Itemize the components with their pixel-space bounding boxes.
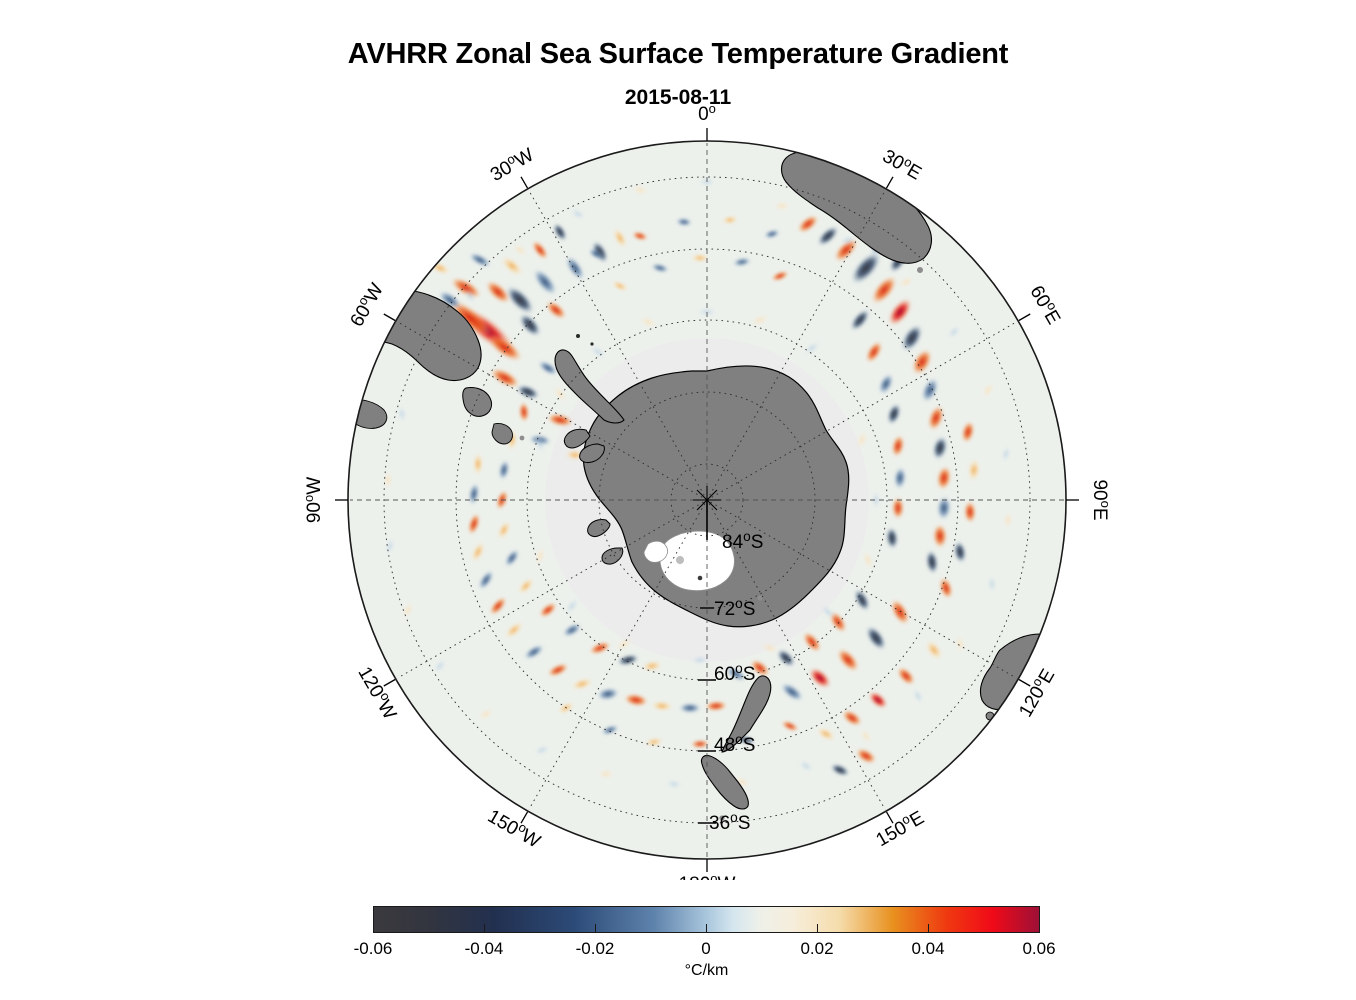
lon-label-30E: 30oE xyxy=(879,143,927,184)
colorbar-tick-label: 0.02 xyxy=(800,939,833,959)
colorbar[interactable]: -0.06 -0.04 -0.02 0 0.02 0.04 0.06 xyxy=(373,906,1040,933)
lat-label-48: 48oS xyxy=(714,732,755,756)
lon-label-60E: 60oE xyxy=(1025,281,1066,329)
figure-canvas: AVHRR Zonal Sea Surface Temperature Grad… xyxy=(0,0,1356,1000)
lat-label-84: 84oS xyxy=(722,529,763,553)
lon-label-90E: 90oE xyxy=(1089,479,1113,520)
colorbar-tick xyxy=(373,924,374,933)
colorbar-tick xyxy=(817,924,818,933)
polar-stereographic-plot: 84oS 72oS 60oS 48oS 36oS xyxy=(0,0,1356,880)
colorbar-unit-label: °C/km xyxy=(373,962,1040,980)
colorbar-tick xyxy=(1039,924,1040,933)
lat-label-60: 60oS xyxy=(714,661,755,685)
lon-label-90W: 90oW xyxy=(301,477,325,523)
sst-gradient-field: 84oS 72oS 60oS 48oS 36oS xyxy=(348,141,1066,859)
colorbar-tick-label: -0.06 xyxy=(354,939,393,959)
colorbar-tick-label: 0 xyxy=(701,939,710,959)
lon-label-30W: 30oW xyxy=(485,142,537,186)
colorbar-tick-label: -0.04 xyxy=(465,939,504,959)
colorbar-tick xyxy=(928,924,929,933)
colorbar-tick xyxy=(595,924,596,933)
polar-map: 84oS 72oS 60oS 48oS 36oS xyxy=(0,0,1356,880)
colorbar-tick-label: -0.02 xyxy=(576,939,615,959)
colorbar-tick-label: 0.04 xyxy=(911,939,944,959)
colorbar-tick xyxy=(706,924,707,933)
lon-label-0: 0o xyxy=(698,101,716,125)
lat-label-72: 72oS xyxy=(714,596,755,620)
colorbar-tick-label: 0.06 xyxy=(1022,939,1055,959)
lat-label-36: 36oS xyxy=(709,810,750,834)
lon-label-60W: 60oW xyxy=(344,278,388,330)
colorbar-tick xyxy=(484,924,485,933)
lon-label-180W: 180oW xyxy=(679,871,736,880)
